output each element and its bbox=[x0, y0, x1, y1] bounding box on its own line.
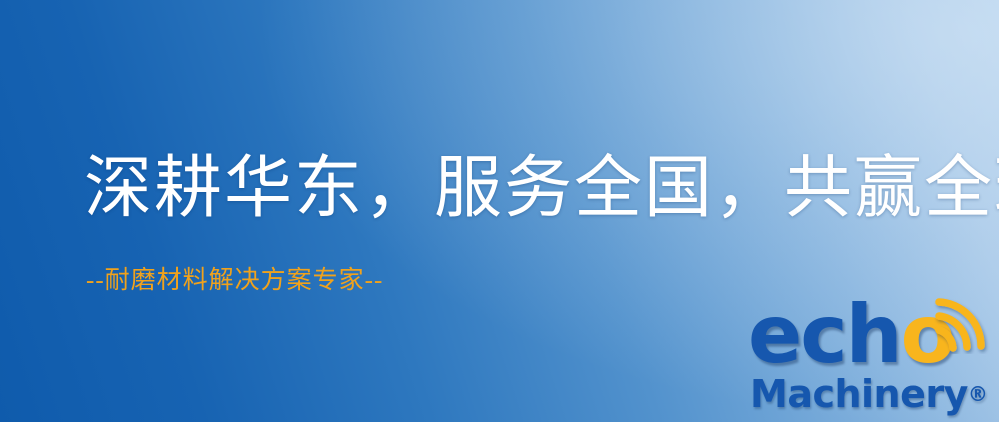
promo-banner: 深耕华东，服务全国，共赢全球 --耐磨材料解决方案专家-- echo Machi… bbox=[0, 0, 999, 422]
registered-trademark-icon: ® bbox=[968, 382, 988, 406]
logo-wordmark: echo bbox=[748, 296, 954, 374]
signal-waves-icon bbox=[931, 292, 993, 354]
echo-machinery-logo[interactable]: echo Machinery® bbox=[748, 300, 994, 420]
logo-wordmark-blue-text: ech bbox=[748, 288, 901, 381]
banner-headline: 深耕华东，服务全国，共赢全球 bbox=[84, 153, 999, 224]
banner-subtitle: --耐磨材料解决方案专家-- bbox=[86, 266, 383, 296]
logo-tagline-text: Machinery bbox=[750, 372, 968, 416]
logo-tagline: Machinery® bbox=[750, 374, 988, 414]
